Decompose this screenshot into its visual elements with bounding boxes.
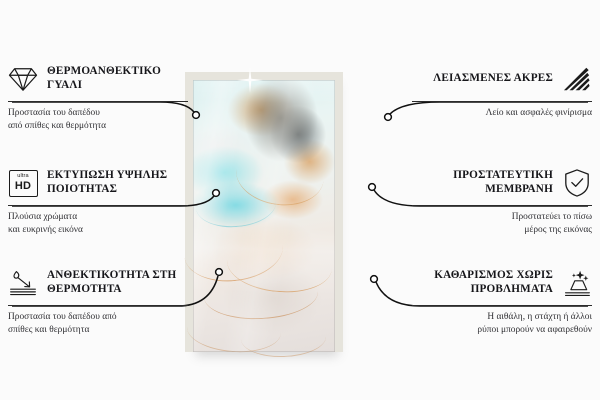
connector-dot-right-1	[385, 114, 392, 121]
feature-header: ΠΡΟΣΤΑΤΕΥΤΙΚΗ ΜΕΜΒΡΑΝΗ	[412, 166, 592, 200]
panel-edge-outline	[193, 80, 335, 352]
easy-clean-icon	[562, 268, 592, 298]
hd-label: HD	[15, 181, 31, 192]
feature-subtitle: Η αιθάλη, η στάχτη ή άλλοιρύποι μπορούν …	[412, 311, 592, 337]
product-glass-panel	[185, 72, 343, 352]
diamond-icon	[8, 64, 38, 94]
feature-subtitle: Πλούσια χρώματακαι ευκρινής εικόνα	[8, 211, 188, 237]
shield-check-icon	[562, 168, 592, 198]
feature-block-easy-cleaning[interactable]: ΚΑΘΑΡΙΣΜΟΣ ΧΩΡΙΣ ΠΡΟΒΛΗΜΑΤΑ Η αιθάλη, η …	[412, 266, 592, 337]
feature-header: ΚΑΘΑΡΙΣΜΟΣ ΧΩΡΙΣ ΠΡΟΒΛΗΜΑΤΑ	[412, 266, 592, 300]
feature-header: ultra HD ΕΚΤΥΠΩΣΗ ΥΨΗΛΗΣ ΠΟΙΟΤΗΤΑΣ	[8, 166, 188, 200]
feature-header: ΘΕΡΜΟΑΝΘΕΚΤΙΚΟ ΓΥΑΛΙ	[8, 62, 188, 96]
feature-title: ΛΕΙΑΣΜΕΝΕΣ ΑΚΡΕΣ	[433, 72, 553, 86]
feature-block-heat-durability[interactable]: ΑΝΘΕΚΤΙΚΟΤΗΤΑ ΣΤΗ ΘΕΡΜΟΤΗΤΑ Προστασία το…	[8, 266, 188, 337]
ultra-hd-badge: ultra HD	[9, 170, 38, 197]
divider	[412, 101, 592, 102]
divider	[8, 205, 188, 206]
feature-title: ΕΚΤΥΠΩΣΗ ΥΨΗΛΗΣ ΠΟΙΟΤΗΤΑΣ	[47, 169, 188, 196]
feature-subtitle: Λείο και ασφαλές φινίρισμα	[412, 107, 592, 120]
feature-block-heat-resistant-glass[interactable]: ΘΕΡΜΟΑΝΘΕΚΤΙΚΟ ΓΥΑΛΙ Προστασία του δαπέδ…	[8, 62, 188, 133]
connector-dot-right-2	[369, 184, 376, 191]
feature-header: ΛΕΙΑΣΜΕΝΕΣ ΑΚΡΕΣ	[412, 62, 592, 96]
heat-resistance-icon	[8, 268, 38, 298]
feature-title: ΠΡΟΣΤΑΤΕΥΤΙΚΗ ΜΕΜΒΡΑΝΗ	[412, 169, 553, 196]
feature-title: ΑΝΘΕΚΤΙΚΟΤΗΤΑ ΣΤΗ ΘΕΡΜΟΤΗΤΑ	[47, 269, 188, 296]
polished-edges-icon	[562, 64, 592, 94]
feature-title: ΚΑΘΑΡΙΣΜΟΣ ΧΩΡΙΣ ΠΡΟΒΛΗΜΑΤΑ	[412, 269, 553, 296]
divider	[412, 305, 592, 306]
feature-subtitle: Προστασία του δαπέδου απόσπίθες και θερμ…	[8, 311, 188, 337]
feature-title: ΘΕΡΜΟΑΝΘΕΚΤΙΚΟ ΓΥΑΛΙ	[47, 65, 188, 92]
feature-subtitle: Προστατεύει το πίσωμέρος της εικόνας	[412, 211, 592, 237]
connector-dot-right-3	[371, 276, 378, 283]
feature-block-polished-edges[interactable]: ΛΕΙΑΣΜΕΝΕΣ ΑΚΡΕΣ Λείο και ασφαλές φινίρι…	[412, 62, 592, 120]
divider	[8, 101, 188, 102]
ultra-hd-icon: ultra HD	[8, 168, 38, 198]
feature-header: ΑΝΘΕΚΤΙΚΟΤΗΤΑ ΣΤΗ ΘΕΡΜΟΤΗΤΑ	[8, 266, 188, 300]
infographic-canvas: ΘΕΡΜΟΑΝΘΕΚΤΙΚΟ ΓΥΑΛΙ Προστασία του δαπέδ…	[0, 0, 600, 400]
feature-subtitle: Προστασία του δαπέδουαπό σπίθες και θερμ…	[8, 107, 188, 133]
feature-block-high-quality-print[interactable]: ultra HD ΕΚΤΥΠΩΣΗ ΥΨΗΛΗΣ ΠΟΙΟΤΗΤΑΣ Πλούσ…	[8, 166, 188, 237]
feature-block-protective-membrane[interactable]: ΠΡΟΣΤΑΤΕΥΤΙΚΗ ΜΕΜΒΡΑΝΗ Προστατεύει το πί…	[412, 166, 592, 237]
divider	[8, 305, 188, 306]
divider	[412, 205, 592, 206]
